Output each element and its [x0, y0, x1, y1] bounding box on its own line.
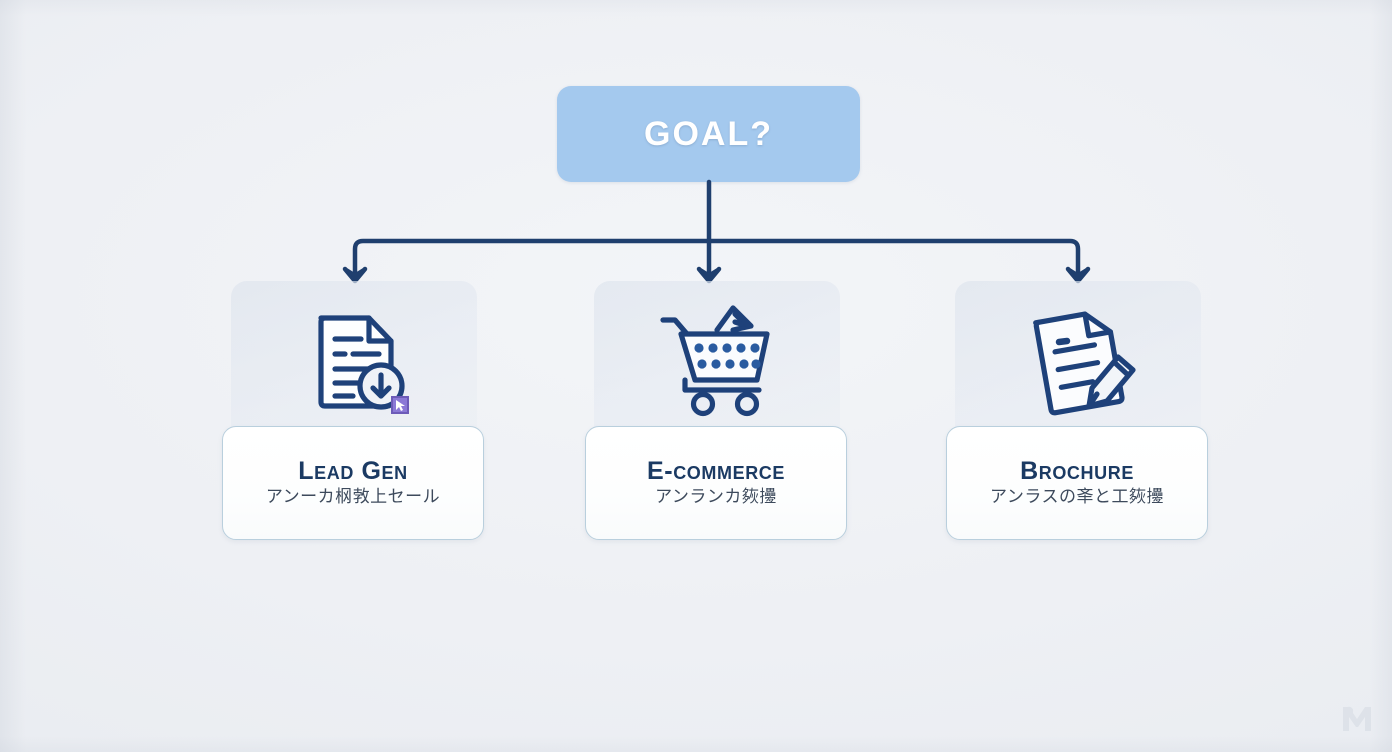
card-subtitle: アンラスの㪯と工㷇㩸	[990, 487, 1164, 507]
card-e-commerce[interactable]: E-commerce アンランカ㷇㩸	[585, 426, 847, 540]
document-pencil-icon	[1019, 304, 1137, 418]
card-brochure[interactable]: Brochure アンラスの㪯と工㷇㩸	[946, 426, 1208, 540]
card-lead-gen[interactable]: Lead Gen アンーカ㭎㪍上セール	[222, 426, 484, 540]
goal-node[interactable]: GOAL?	[557, 86, 860, 182]
card-subtitle: アンーカ㭎㪍上セール	[266, 487, 440, 507]
branch-brochure[interactable]: Brochure アンラスの㪯と工㷇㩸	[946, 281, 1210, 543]
brand-watermark	[1336, 698, 1378, 740]
document-download-icon	[295, 302, 413, 420]
icon-panel-lead-gen	[231, 281, 477, 441]
card-title: Brochure	[1020, 458, 1134, 484]
goal-node-label: GOAL?	[644, 115, 773, 154]
card-subtitle: アンランカ㷇㩸	[655, 487, 777, 507]
branch-e-commerce[interactable]: E-commerce アンランカ㷇㩸	[585, 281, 849, 543]
icon-panel-brochure	[955, 281, 1201, 441]
branch-lead-gen[interactable]: Lead Gen アンーカ㭎㪍上セール	[222, 281, 486, 543]
shopping-cart-icon	[655, 304, 779, 418]
card-title: E-commerce	[647, 458, 785, 484]
cursor-badge	[392, 397, 408, 413]
card-title: Lead Gen	[298, 458, 407, 484]
icon-panel-e-commerce	[594, 281, 840, 441]
